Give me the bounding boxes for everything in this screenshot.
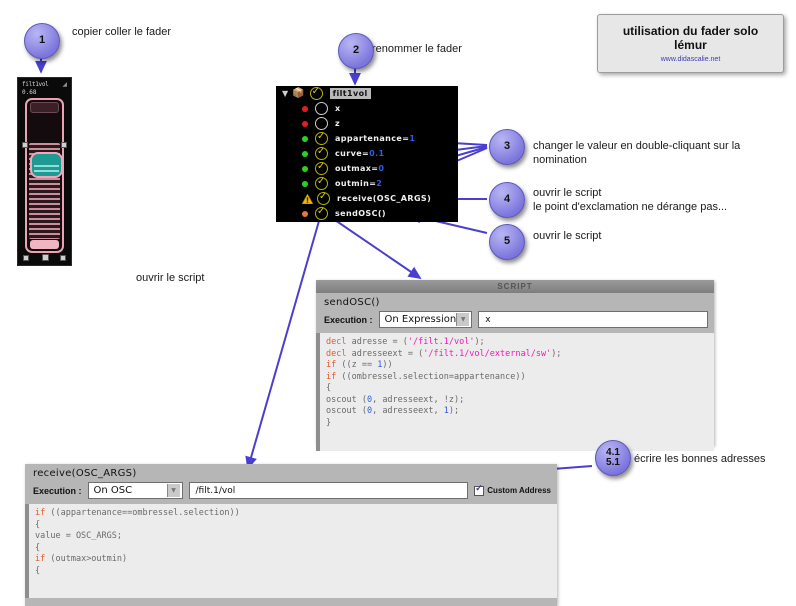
tree-row-outmax[interactable]: outmax=0 [276,161,458,176]
row-enable-checkbox[interactable] [315,147,328,160]
send-execution-value: On Expression [385,314,457,325]
send-execution-select[interactable]: On Expression ▼ [379,311,473,328]
resize-icon: ◢ [62,81,67,88]
tree-rows: xzappartenance=1curve=0.1outmax=0outmin=… [276,101,458,221]
object-tree-panel[interactable]: ▼ 📦 filt1vol xzappartenance=1curve=0.1ou… [276,86,458,222]
tree-row-appartenance[interactable]: appartenance=1 [276,131,458,146]
badge-2-label: 2 [353,45,359,57]
chevron-down-icon[interactable]: ▼ [456,313,469,326]
triangle-down-icon[interactable]: ▼ [282,89,288,98]
tree-row-label: outmax=0 [335,164,384,173]
logo-title-line2: lémur [674,38,707,52]
note-4-1-5-1: écrire les bonnes adresses [634,452,765,466]
send-script-window[interactable]: SCRIPT sendOSC() Execution : On Expressi… [316,280,714,446]
tree-row-label: z [335,119,340,128]
tree-row-outmin[interactable]: outmin=2 [276,176,458,191]
tree-row-label: outmin=2 [335,179,382,188]
badge-2[interactable]: 2 [338,33,374,69]
tree-row-value[interactable]: 2 [376,179,382,188]
badge-51-label: 5.1 [606,458,620,469]
fader-value-label: 0.68 [22,89,36,96]
tree-row-value[interactable]: 0.1 [369,149,384,158]
status-led-green [302,136,308,142]
object-name-field[interactable]: filt1vol [330,88,371,99]
recv-execution-label: Execution : [33,486,82,496]
status-led-orange [302,211,308,217]
logo-url: www.didascalie.net [661,56,721,63]
tree-row-z[interactable]: z [276,116,458,131]
status-led-green [302,181,308,187]
send-script-execution-row: Execution : On Expression ▼ x [316,311,714,333]
canvas: utilisation du fader solo lémur www.dida… [0,0,796,606]
badge-4-label: 4 [504,194,510,206]
resize-handle-bottom-left[interactable] [23,255,29,261]
fader-name-label: filt1vol [22,81,49,88]
tree-row-label: sendOSC() [335,209,386,218]
send-script-titlebar[interactable]: SCRIPT [316,280,714,293]
send-script-code[interactable]: decl adresse = ('/filt.1/vol'); decl adr… [316,333,714,451]
send-execution-label: Execution : [324,315,373,325]
root-enable-checkbox[interactable] [310,87,323,100]
badge-3[interactable]: 3 [489,129,525,165]
resize-handle-left[interactable] [22,142,28,148]
badge-4-1-5-1[interactable]: 4.1 5.1 [595,440,631,476]
row-enable-checkbox[interactable] [315,162,328,175]
resize-handle-right[interactable] [61,142,67,148]
fader-foot-pad [30,240,59,249]
badge-1[interactable]: 1 [24,23,60,59]
badge-1-label: 1 [39,35,45,47]
note-2: renommer le fader [372,42,462,56]
tree-row-label: curve=0.1 [335,149,385,158]
fader-top-pad [30,102,59,113]
resize-handle-bottom-right[interactable] [60,255,66,261]
tree-root-row[interactable]: ▼ 📦 filt1vol [276,86,458,101]
row-enable-checkbox[interactable] [315,117,328,130]
send-expression-value: x [485,315,490,325]
chevron-down-icon[interactable]: ▼ [167,484,180,497]
custom-address-checkbox[interactable] [474,486,484,496]
logo-title-line1: utilisation du fader solo [623,24,758,38]
row-enable-checkbox[interactable] [315,177,328,190]
recv-address-input[interactable]: /filt.1/vol [189,482,469,499]
tree-row-receiveoscargs[interactable]: receive(OSC_ARGS) [276,191,458,206]
row-enable-checkbox[interactable] [315,102,328,115]
logo-banner: utilisation du fader solo lémur www.dida… [597,14,784,73]
recv-execution-value: On OSC [94,485,167,496]
arrow-receive-to-recv-panel [248,200,325,468]
tree-row-value[interactable]: 0 [378,164,384,173]
tree-row-x[interactable]: x [276,101,458,116]
status-led-green [302,166,308,172]
receive-script-window[interactable]: receive(OSC_ARGS) Execution : On OSC ▼ /… [25,464,557,606]
note-5: ouvrir le script [533,229,601,243]
recv-execution-select[interactable]: On OSC ▼ [88,482,183,499]
resize-handle-bottom-center[interactable] [42,254,49,261]
status-led-red [302,121,308,127]
arrow-sendosc-to-send-panel [332,218,420,278]
badge-3-label: 3 [504,141,510,153]
row-enable-checkbox[interactable] [315,207,328,220]
badge-4[interactable]: 4 [489,182,525,218]
status-led-red [302,106,308,112]
fader-widget[interactable]: filt1vol 0.68 ◢ [17,77,72,266]
send-script-function-name: sendOSC() [316,293,714,311]
badge-5[interactable]: 5 [489,224,525,260]
cube-icon: 📦 [292,88,304,99]
send-expression-input[interactable]: x [478,311,708,328]
tree-row-sendosc[interactable]: sendOSC() [276,206,458,221]
custom-address-label: Custom Address [487,486,551,495]
tree-row-label: appartenance=1 [335,134,415,143]
badge-5-label: 5 [504,236,510,248]
note-1: copier coller le fader [72,25,171,39]
note-left: ouvrir le script [136,271,204,285]
tree-row-curve[interactable]: curve=0.1 [276,146,458,161]
note-4: ouvrir le script le point d'exclamation … [533,186,727,214]
warning-icon [302,194,313,204]
recv-script-execution-row: Execution : On OSC ▼ /filt.1/vol Custom … [25,482,557,504]
row-enable-checkbox[interactable] [315,132,328,145]
tree-row-label: receive(OSC_ARGS) [337,194,431,203]
recv-script-function-name: receive(OSC_ARGS) [25,464,557,482]
fader-handle[interactable] [30,152,63,178]
fader-track[interactable] [25,98,64,253]
note-3: changer le valeur en double-cliquant sur… [533,139,796,167]
recv-address-value: /filt.1/vol [196,486,236,496]
custom-address-toggle[interactable]: Custom Address [474,486,551,496]
tree-row-value[interactable]: 1 [409,134,415,143]
recv-script-code[interactable]: if ((appartenance==ombressel.selection))… [25,504,557,598]
row-enable-checkbox[interactable] [317,192,330,205]
status-led-green [302,151,308,157]
tree-row-label: x [335,104,341,113]
